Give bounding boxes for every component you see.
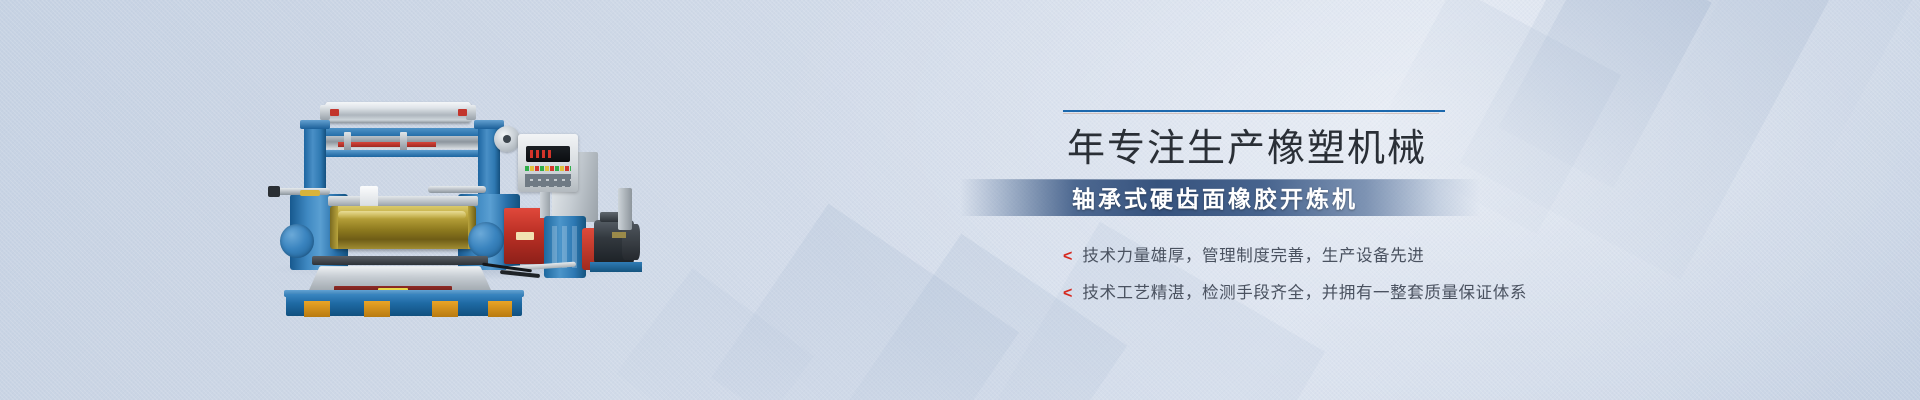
machine-roller-highlight [338,211,466,219]
machine-arm-knob [300,190,320,196]
machine-arm-end-left [268,186,280,197]
feature-item-label: 技术工艺精湛，检测手段齐全，并拥有一整套质量保证体系 [1082,279,1527,303]
decor-shape-bottom-1 [711,204,1019,400]
machine-motor-base [590,262,642,272]
machine-panel-post [540,192,550,218]
banner-content: 年专注生产橡塑机械 轴承式硬齿面橡胶开炼机 < 技术力量雄厚，管理制度完善，生产… [1063,110,1563,316]
machine-bearing-left [280,224,314,258]
machine-panel-digits [530,150,552,158]
decor-shape-bottom-4 [616,268,814,400]
machine-right-edge-panel [618,188,632,230]
machine-bearing-right [468,222,504,258]
machine-column-cap-left [300,120,330,129]
machine-foot-1 [304,301,330,317]
banner-subtitle-bar: 轴承式硬齿面橡胶开炼机 [960,179,1480,216]
machine-clamp-right [400,132,407,151]
machine-foot-4 [488,301,512,317]
feature-list: < 技术力量雄厚，管理制度完善，生产设备先进 < 技术工艺精湛，检测手段齐全，并… [1063,242,1563,303]
machine-pipe-2 [500,270,540,278]
machine-roller-cap-left [320,105,330,120]
machine-arm-right [428,186,486,193]
subtitle-bar-highlight [960,179,1480,180]
chevron-left-icon: < [1063,249,1072,265]
machine-roller-accent-right [458,109,467,116]
machine-foot-2 [364,301,390,317]
decor-shape-top-right-4 [1669,0,1920,175]
machine-roller-ring-left [330,206,338,249]
banner-headline: 年专注生产橡塑机械 [1067,128,1563,171]
machine-foot-3 [432,301,458,317]
machine-upper-bar-lower [310,150,492,157]
machine-panel-indicator-lights [525,166,571,171]
machine-roller-accent-left [330,109,339,116]
feature-item-label: 技术力量雄厚，管理制度完善，生产设备先进 [1082,242,1424,266]
machine-top-plate [328,196,478,206]
machine-fan-hub [503,135,511,143]
feature-item: < 技术工艺精湛，检测手段齐全，并拥有一整套质量保证体系 [1063,279,1563,303]
machine-motor-terminal-box [600,212,620,222]
machine-upper-red-strip [338,142,436,147]
machine-gearbox-fin-1 [552,226,557,268]
machine-tray-lip [312,256,488,265]
promo-banner: 年专注生产橡塑机械 轴承式硬齿面橡胶开炼机 < 技术力量雄厚，管理制度完善，生产… [0,0,1920,400]
title-divider [1063,110,1445,114]
machine-red-box-label [516,232,534,240]
divider-line-blue [1063,110,1445,112]
chevron-left-icon: < [1063,286,1072,302]
divider-line-tan [1063,113,1439,114]
machine-top-roller [324,102,472,123]
feature-item: < 技术力量雄厚，管理制度完善，生产设备先进 [1063,242,1563,266]
machine-clamp-left [344,132,351,151]
product-image-rubber-mixing-mill [282,96,632,266]
banner-subtitle: 轴承式硬齿面橡胶开炼机 [1072,180,1358,214]
machine-roller-cap-right [466,105,476,120]
machine-panel-buttons [525,174,571,187]
machine-motor-band [612,232,626,238]
